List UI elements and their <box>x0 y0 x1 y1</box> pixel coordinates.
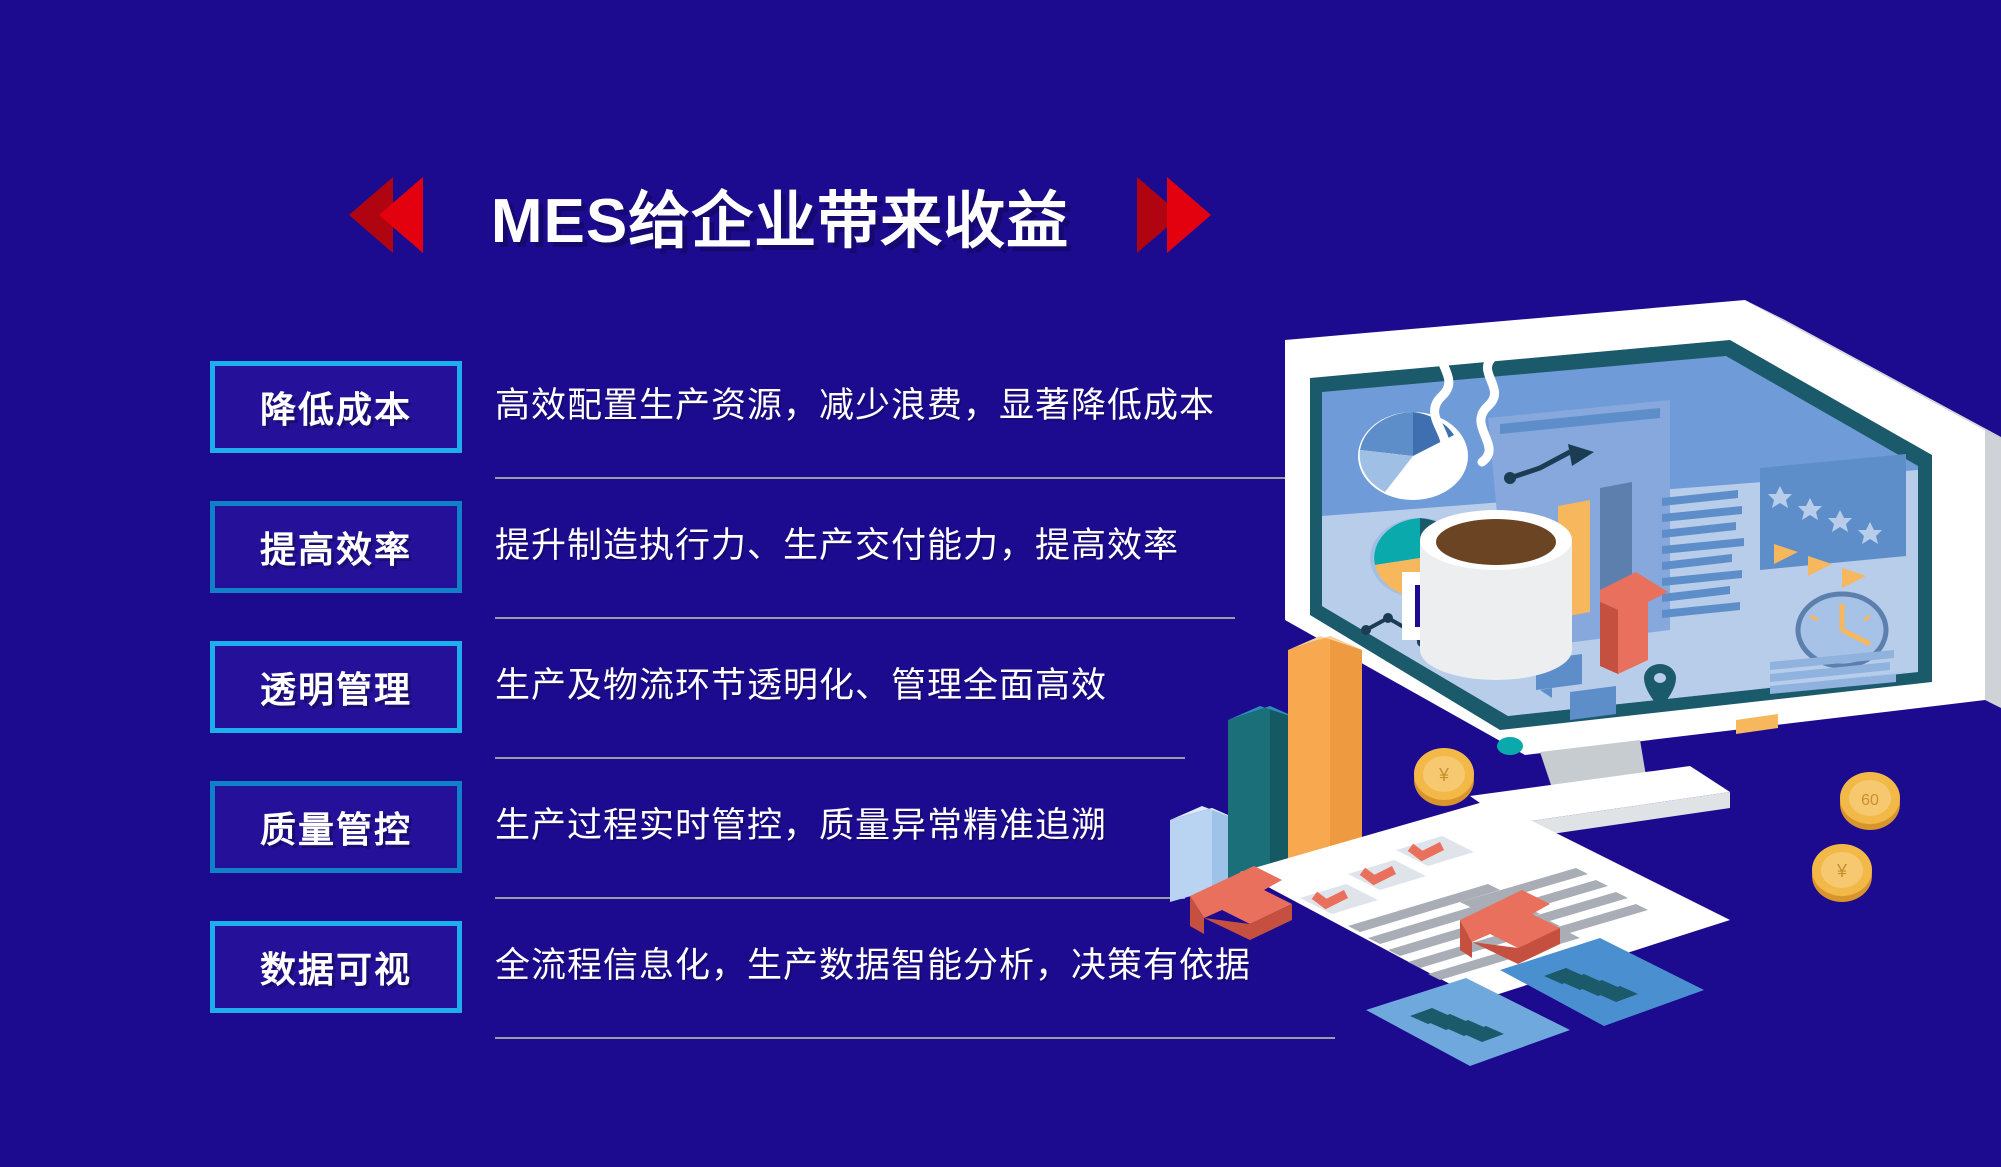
row-divider <box>495 617 1235 619</box>
benefit-tag-label: 提高效率 <box>260 521 412 573</box>
desktop-monitor-icon <box>1285 300 2001 755</box>
benefit-tag-4[interactable]: 数据可视 <box>210 921 462 1013</box>
title-row: MES给企业带来收益 <box>0 160 1560 270</box>
benefit-tag-label: 质量管控 <box>260 801 412 853</box>
row-divider <box>495 477 1285 479</box>
benefit-tag-label: 数据可视 <box>260 941 412 993</box>
svg-text:60: 60 <box>1861 792 1879 809</box>
svg-text:¥: ¥ <box>1836 861 1848 881</box>
double-chevron-left-icon <box>349 177 423 253</box>
double-chevron-right-icon <box>1137 177 1211 253</box>
gold-coin-icon: 60 <box>1840 772 1900 830</box>
slide-canvas: MES给企业带来收益 降低成本 高效配置生产资源，减少浪费，显著降低成本 提高效… <box>0 0 2001 1167</box>
benefit-description: 全流程信息化，生产数据智能分析，决策有依据 <box>495 937 1251 988</box>
isometric-business-analytics-illustration: ¥ 60 ¥ <box>1170 300 2001 1090</box>
benefit-description: 生产过程实时管控，质量异常精准追溯 <box>495 797 1107 848</box>
benefit-tag-1[interactable]: 提高效率 <box>210 501 462 593</box>
benefit-description: 生产及物流环节透明化、管理全面高效 <box>495 657 1107 708</box>
benefit-tag-2[interactable]: 透明管理 <box>210 641 462 733</box>
row-divider <box>495 897 1185 899</box>
power-led-icon <box>1497 737 1523 755</box>
benefit-tag-0[interactable]: 降低成本 <box>210 361 462 453</box>
benefit-tag-label: 降低成本 <box>260 381 412 433</box>
benefit-description: 提升制造执行力、生产交付能力，提高效率 <box>495 517 1179 568</box>
benefit-description: 高效配置生产资源，减少浪费，显著降低成本 <box>495 377 1215 428</box>
gold-coin-icon: ¥ <box>1812 844 1872 902</box>
svg-text:¥: ¥ <box>1438 765 1450 785</box>
benefit-tag-3[interactable]: 质量管控 <box>210 781 462 873</box>
benefit-tag-label: 透明管理 <box>260 661 412 713</box>
gold-coin-icon: ¥ <box>1414 748 1474 806</box>
row-divider <box>495 757 1185 759</box>
page-title: MES给企业带来收益 <box>491 170 1069 260</box>
pie-chart-icon <box>1358 412 1468 500</box>
